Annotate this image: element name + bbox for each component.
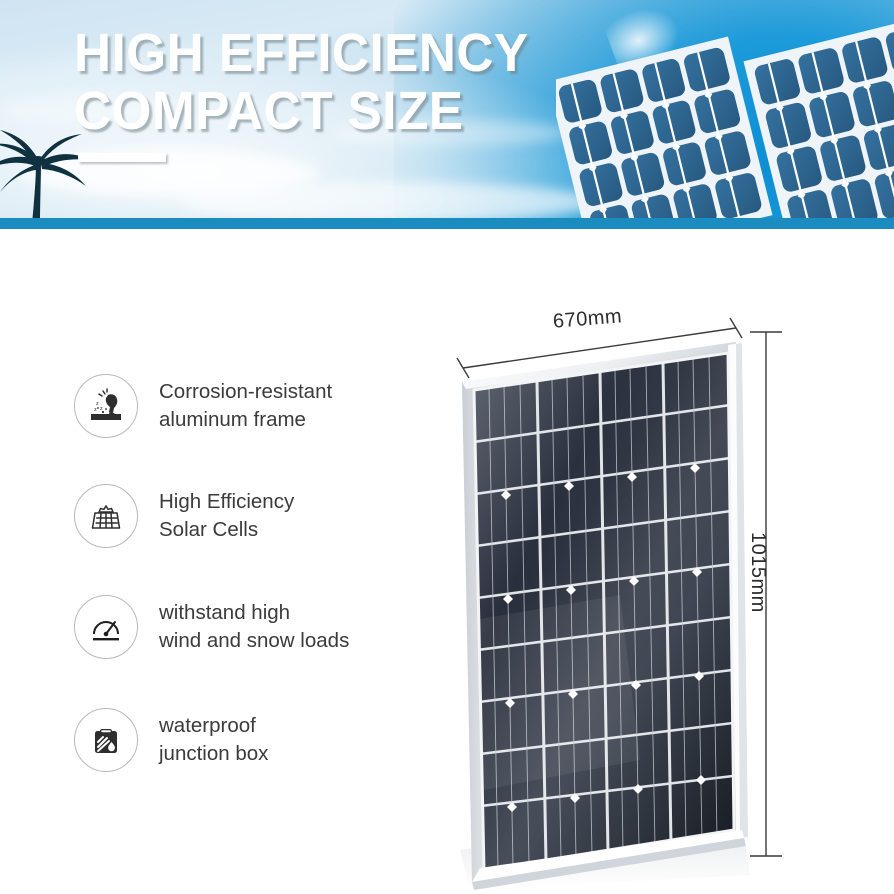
feature-label-line-2: aluminum frame xyxy=(159,406,332,434)
feature-item-corrosion-resistant-frame: z z z Corrosion-resistant aluminum frame xyxy=(74,374,332,438)
dimension-label-height: 1015mm xyxy=(746,532,769,613)
hammer-impact-icon: z z z xyxy=(74,374,138,438)
feature-label-line-2: wind and snow loads xyxy=(159,627,349,655)
feature-item-high-efficiency-cells: High Efficiency Solar Cells xyxy=(74,484,294,548)
waterproof-junction-box-icon xyxy=(74,708,138,772)
feature-label-line-2: Solar Cells xyxy=(159,516,294,544)
title-underline-rule xyxy=(78,153,166,162)
product-feature-graphic: HIGH EFFICIENCY COMPACT SIZE xyxy=(0,0,894,894)
feature-label: Corrosion-resistant aluminum frame xyxy=(159,378,332,434)
cloud xyxy=(180,182,600,222)
sun-solar-panel-icon xyxy=(74,484,138,548)
tilted-solar-array-icon xyxy=(556,0,894,228)
feature-item-waterproof-junction-box: waterproof junction box xyxy=(74,708,268,772)
feature-label-line-1: waterproof xyxy=(159,714,256,737)
feature-label: withstand high wind and snow loads xyxy=(159,599,349,655)
feature-item-wind-snow-load: withstand high wind and snow loads xyxy=(74,595,349,659)
feature-label: High Efficiency Solar Cells xyxy=(159,488,294,544)
feature-label-line-1: High Efficiency xyxy=(159,490,294,513)
feature-label-line-1: Corrosion-resistant xyxy=(159,380,332,403)
banner-title-block: HIGH EFFICIENCY COMPACT SIZE xyxy=(74,24,553,162)
feature-label: waterproof junction box xyxy=(159,712,268,768)
gauge-speedometer-icon xyxy=(74,595,138,659)
page-title-line-1: HIGH EFFICIENCY xyxy=(74,24,529,82)
page-title-line-2: COMPACT SIZE xyxy=(74,82,529,140)
banner-accent-bar xyxy=(0,218,894,229)
monocrystalline-solar-panel xyxy=(440,290,894,894)
feature-label-line-2: junction box xyxy=(159,740,268,768)
product-image-with-dimensions: 670mm 1015mm xyxy=(440,290,894,894)
svg-text:z: z xyxy=(94,407,97,413)
header-banner: HIGH EFFICIENCY COMPACT SIZE xyxy=(0,0,894,228)
feature-label-line-1: withstand high xyxy=(159,601,290,624)
